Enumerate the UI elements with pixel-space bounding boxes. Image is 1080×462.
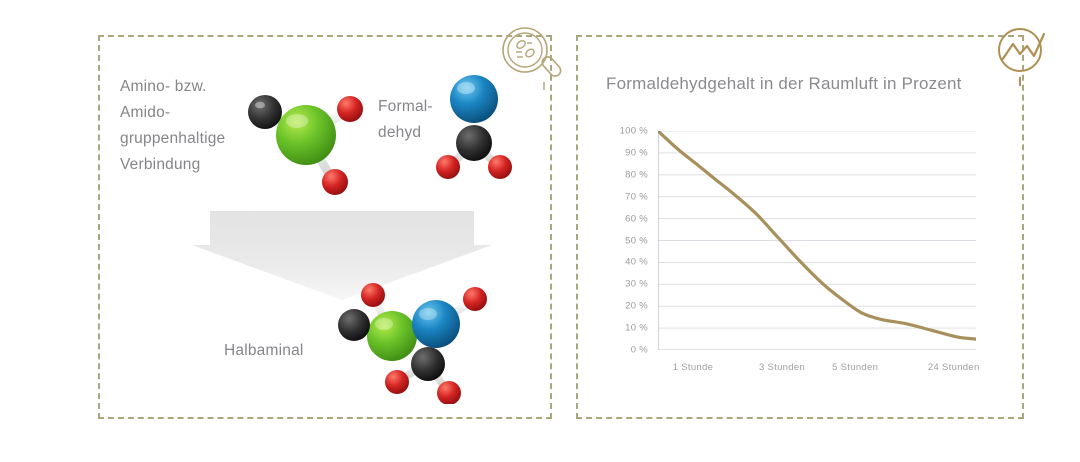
y-axis-labels: 100 %90 %80 %70 %60 %50 %40 %30 %20 %10 …	[596, 110, 648, 390]
y-tick-label: 60 %	[625, 213, 648, 224]
y-tick-label: 70 %	[625, 191, 648, 202]
x-axis-labels: 1 Stunde3 Stunden5 Stunden24 Stunden	[576, 110, 1020, 130]
y-tick-label: 50 %	[625, 235, 648, 246]
line-chart-svg	[658, 131, 976, 350]
x-tick-label: 1 Stunde	[673, 362, 713, 373]
y-tick-label: 40 %	[625, 257, 648, 268]
y-tick-label: 10 %	[625, 323, 648, 334]
x-tick-label: 24 Stunden	[928, 362, 980, 373]
y-tick-label: 0 %	[631, 345, 648, 356]
amino-compound-molecule	[236, 83, 376, 197]
halbaminal-molecule	[330, 276, 500, 404]
formaldehyde-molecule	[432, 70, 516, 182]
plot-area	[658, 131, 976, 350]
gridlines	[658, 131, 976, 350]
y-tick-label: 20 %	[625, 301, 648, 312]
x-tick-label: 3 Stunden	[759, 362, 805, 373]
y-tick-label: 30 %	[625, 279, 648, 290]
y-tick-label: 80 %	[625, 169, 648, 180]
data-line-series	[658, 131, 976, 339]
x-tick-label: 5 Stunden	[832, 362, 878, 373]
trend-line-circle-icon	[988, 22, 1058, 92]
chart-title: Formaldehydgehalt in der Raumluft in Pro…	[606, 74, 962, 94]
chart-area: 100 %90 %80 %70 %60 %50 %40 %30 %20 %10 …	[576, 110, 1020, 390]
y-tick-label: 90 %	[625, 147, 648, 158]
